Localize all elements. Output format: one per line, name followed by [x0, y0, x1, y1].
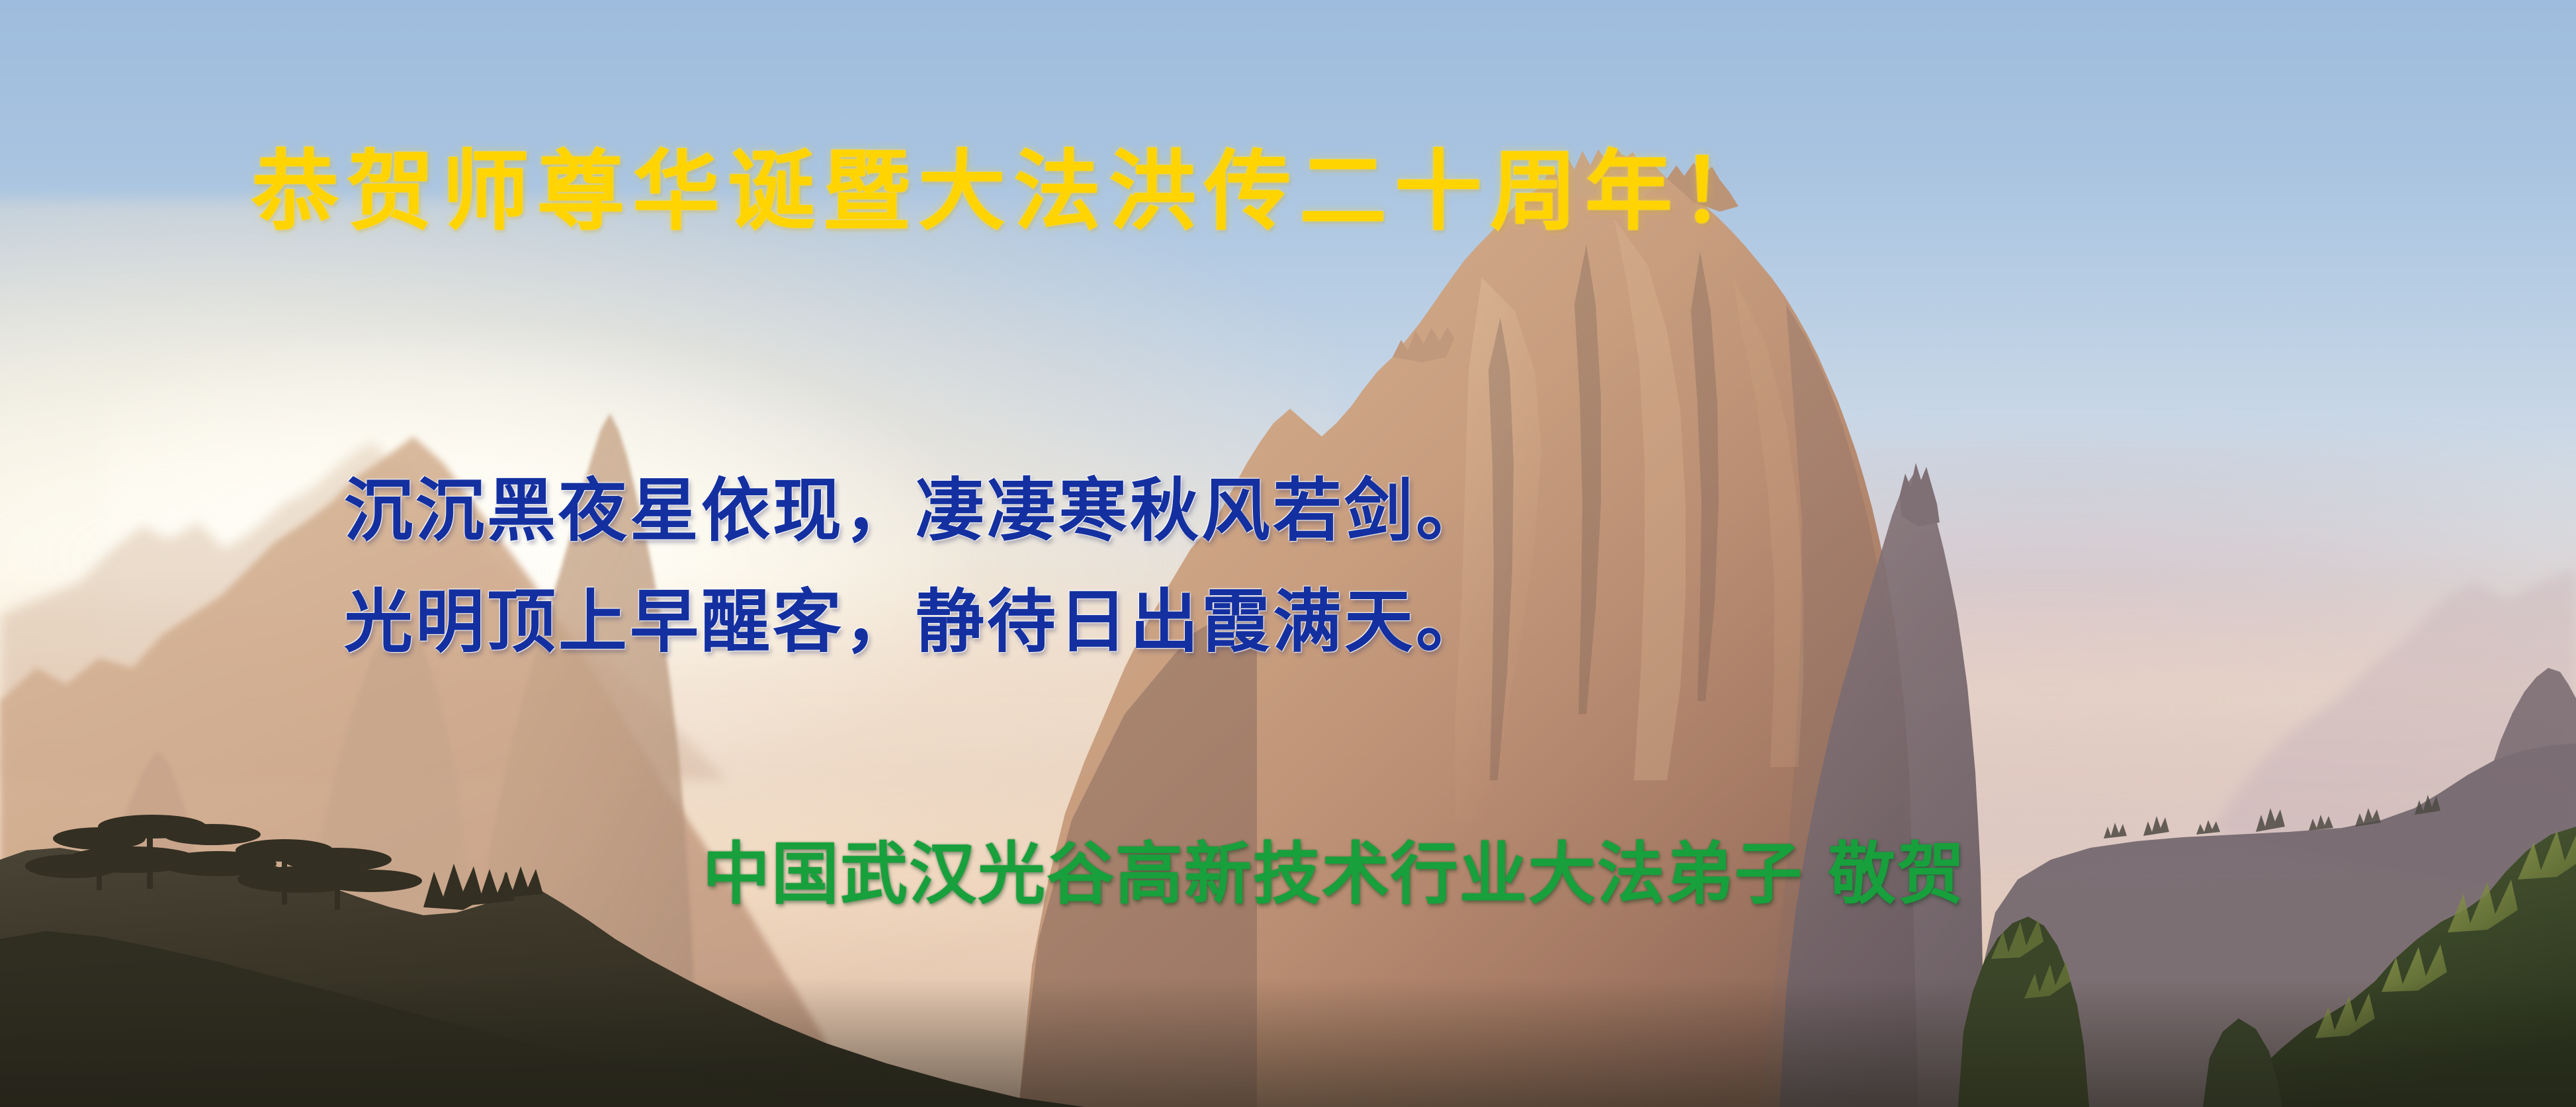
text-overlay: 恭贺师尊华诞暨大法洪传二十周年！ 沉沉黑夜星依现，凄凄寒秋风若剑。 光明顶上早醒… — [0, 0, 2576, 1107]
poem-block: 沉沉黑夜星依现，凄凄寒秋风若剑。 光明顶上早醒客，静待日出霞满天。 — [344, 455, 1487, 678]
poem-line-2: 光明顶上早醒客，静待日出霞满天。 — [344, 566, 1487, 677]
greeting-card: 恭贺师尊华诞暨大法洪传二十周年！ 沉沉黑夜星依现，凄凄寒秋风若剑。 光明顶上早醒… — [0, 0, 2576, 1107]
poem-line-1: 沉沉黑夜星依现，凄凄寒秋风若剑。 — [344, 455, 1487, 566]
signature-line: 中国武汉光谷高新技术行业大法弟子 敬贺 — [703, 841, 1966, 909]
headline-greeting: 恭贺师尊华诞暨大法洪传二十周年！ — [251, 148, 1776, 235]
